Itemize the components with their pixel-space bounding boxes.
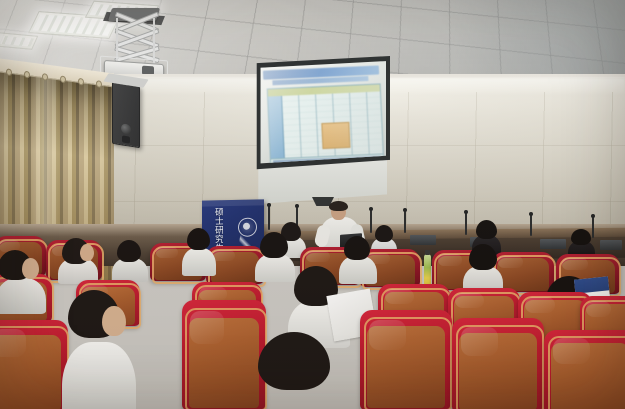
audience-person: [463, 244, 503, 292]
person-torso: [182, 248, 216, 276]
audience-person: [62, 290, 136, 409]
table-nameplate: [600, 240, 622, 250]
projection-screen: [254, 56, 390, 206]
water-bottle: [424, 254, 431, 288]
audience-person: [112, 240, 148, 280]
banner-top-strip: [202, 199, 264, 206]
screen-glare: [258, 60, 386, 170]
auditorium-seat: [182, 300, 266, 409]
microphone: [465, 213, 467, 235]
person-head: [102, 306, 126, 336]
presenter-hair: [329, 201, 348, 211]
wall-mounted-speaker: [112, 82, 140, 148]
auditorium-seat: [360, 310, 452, 409]
person-head: [80, 244, 94, 261]
auditorium-seat: [452, 318, 544, 409]
person-hair: [571, 229, 591, 245]
screen-surface: [258, 60, 386, 170]
person-torso: [62, 342, 136, 409]
table-nameplate: [410, 235, 436, 245]
audience-person: [58, 238, 98, 280]
person-hair: [469, 244, 497, 270]
bottle-cap: [425, 250, 430, 255]
person-head: [22, 258, 39, 279]
audience-person: [182, 228, 216, 274]
audience-person: [258, 332, 344, 409]
person-hair: [375, 225, 393, 242]
auditorium-seat: [0, 320, 68, 409]
person-hair: [344, 236, 370, 260]
person-torso: [0, 278, 46, 314]
table-nameplate: [540, 239, 566, 249]
lecture-hall-photo: 硕士研究生: [0, 0, 625, 409]
speaker-port: [122, 135, 130, 143]
person-hair: [187, 228, 210, 250]
person-hair: [117, 240, 141, 262]
ceiling-light-fixture: [0, 32, 38, 50]
auditorium-seat: [544, 330, 625, 409]
microphone: [530, 215, 532, 236]
person-hair: [258, 332, 330, 390]
microphone: [268, 206, 270, 230]
audience-person: [0, 250, 46, 312]
person-hair: [260, 232, 288, 258]
person-hair: [476, 220, 497, 239]
microphone: [404, 211, 406, 233]
